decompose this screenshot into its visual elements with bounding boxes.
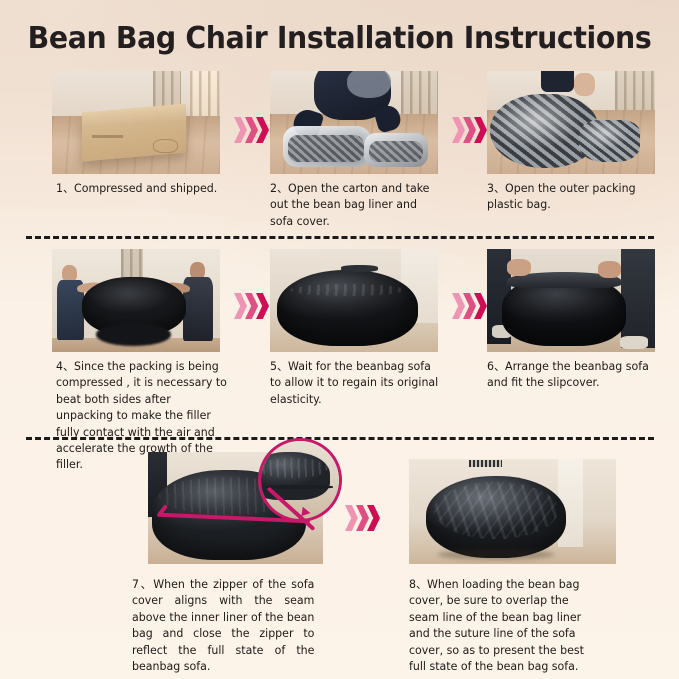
step-image-5 <box>270 249 438 352</box>
step-image-6 <box>487 249 655 352</box>
step-caption-6: 6、Arrange the beanbag sofa and fit the s… <box>487 358 650 391</box>
step-caption-2: 2、Open the carton and take out the bean … <box>270 180 443 229</box>
step-image-1 <box>52 71 220 174</box>
step-image-4 <box>52 249 220 352</box>
page-title: Bean Bag Chair Installation Instructions <box>24 21 655 56</box>
step-arrow-7-to-8 <box>345 505 385 531</box>
step-arrow-4-to-5 <box>234 293 274 319</box>
step-image-8 <box>409 459 616 564</box>
step-arrow-1-to-2 <box>234 117 274 143</box>
section-divider-1 <box>26 236 654 239</box>
step-arrow-5-to-6 <box>452 293 492 319</box>
step-image-3 <box>487 71 655 174</box>
chevron-icon <box>474 293 487 319</box>
step-caption-5: 5、Wait for the beanbag sofa to allow it … <box>270 358 444 407</box>
step-image-2 <box>270 71 438 174</box>
step-caption-7: 7、When the zipper of the sofa cover alig… <box>132 576 314 674</box>
section-divider-2 <box>26 437 654 440</box>
chevron-icon <box>474 117 487 143</box>
chevron-icon <box>256 293 269 319</box>
step-caption-8: 8、When loading the bean bag cover, be su… <box>409 576 599 674</box>
chevron-icon <box>367 505 380 531</box>
instruction-poster: Bean Bag Chair Installation Instructions <box>0 0 679 679</box>
chevron-icon <box>256 117 269 143</box>
step-arrow-2-to-3 <box>452 117 492 143</box>
step-caption-3: 3、Open the outer packing plastic bag. <box>487 180 649 213</box>
step-caption-1: 1、Compressed and shipped. <box>56 180 222 196</box>
